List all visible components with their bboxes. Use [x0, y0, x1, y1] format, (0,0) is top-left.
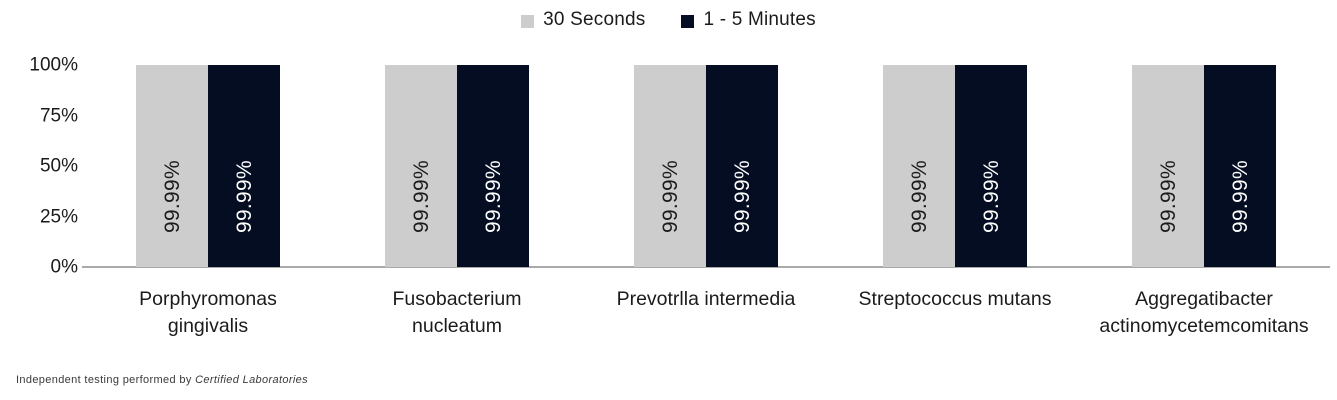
x-axis-category-label: Fusobacteriumnucleatum — [336, 286, 579, 340]
bar[interactable]: 99.99% — [136, 65, 208, 267]
x-axis-category-label: Porphyromonasgingivalis — [87, 286, 330, 340]
bar-value-label: 99.99% — [411, 160, 432, 233]
footnote-prefix: Independent testing performed by — [16, 374, 195, 386]
bar[interactable]: 99.99% — [955, 65, 1027, 267]
bar[interactable]: 99.99% — [883, 65, 955, 267]
x-axis-category-label-line: Streptococcus mutans — [834, 286, 1077, 313]
x-axis-category-label-line: Fusobacterium — [336, 286, 579, 313]
bar-value-label: 99.99% — [1158, 160, 1179, 233]
bar[interactable]: 99.99% — [634, 65, 706, 267]
x-axis-category-label-line: actinomycetemcomitans — [1083, 313, 1326, 340]
bar[interactable]: 99.99% — [457, 65, 529, 267]
x-axis-category-label-line: gingivalis — [87, 313, 330, 340]
bar[interactable]: 99.99% — [1204, 65, 1276, 267]
bar-value-label: 99.99% — [981, 160, 1002, 233]
bar[interactable]: 99.99% — [385, 65, 457, 267]
bars-layer: 99.99%99.99%99.99%99.99%99.99%99.99%99.9… — [0, 0, 1337, 400]
bar[interactable]: 99.99% — [706, 65, 778, 267]
bar-value-label: 99.99% — [1230, 160, 1251, 233]
bar-value-label: 99.99% — [732, 160, 753, 233]
x-axis-category-label-line: Porphyromonas — [87, 286, 330, 313]
footnote: Independent testing performed by Certifi… — [16, 374, 308, 386]
bar[interactable]: 99.99% — [208, 65, 280, 267]
x-axis-category-label: Streptococcus mutans — [834, 286, 1077, 313]
bar-value-label: 99.99% — [234, 160, 255, 233]
x-axis-category-label-line: nucleatum — [336, 313, 579, 340]
bar[interactable]: 99.99% — [1132, 65, 1204, 267]
bar-chart: 100%75%50%25%0% 99.99%99.99%99.99%99.99%… — [0, 0, 1337, 400]
footnote-source: Certified Laboratories — [195, 374, 308, 386]
bar-value-label: 99.99% — [483, 160, 504, 233]
bar-value-label: 99.99% — [162, 160, 183, 233]
x-axis-category-label-line: Prevotrlla intermedia — [585, 286, 828, 313]
x-axis-category-label: Prevotrlla intermedia — [585, 286, 828, 313]
bar-value-label: 99.99% — [660, 160, 681, 233]
x-axis-category-label: Aggregatibacteractinomycetemcomitans — [1083, 286, 1326, 340]
x-axis-category-label-line: Aggregatibacter — [1083, 286, 1326, 313]
bar-value-label: 99.99% — [909, 160, 930, 233]
